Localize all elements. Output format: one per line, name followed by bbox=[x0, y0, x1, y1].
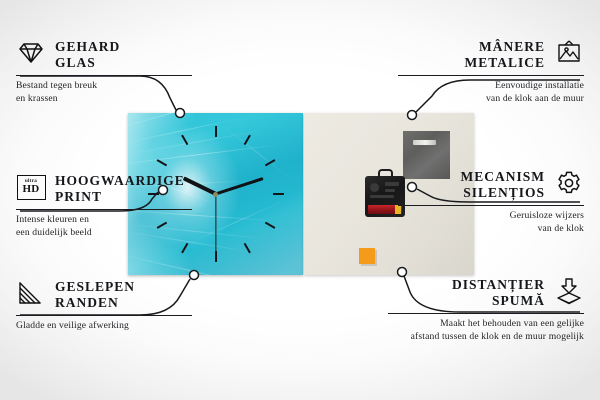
feature-description: Eenvoudige installatie van de klok aan d… bbox=[398, 79, 584, 105]
clock-tick-mark bbox=[181, 135, 188, 146]
feature-divider bbox=[398, 205, 584, 206]
mechanism-detail-c bbox=[385, 189, 395, 192]
mechanism-hanging-loop bbox=[378, 169, 393, 178]
clock-tick-mark bbox=[215, 251, 217, 262]
feature-description: Geruisloze wijzers van de klok bbox=[398, 209, 584, 235]
feature-header: GESLEPEN RANDEN bbox=[16, 278, 192, 312]
feature-title: GESLEPEN RANDEN bbox=[55, 278, 135, 312]
hanger-slot bbox=[413, 140, 436, 145]
feature-header: MÂNERE METALICE bbox=[398, 38, 584, 72]
beveled-edge-icon bbox=[16, 278, 46, 308]
feature-title: DISTANȚIER SPUMĂ bbox=[452, 276, 545, 310]
feature-divider bbox=[16, 75, 192, 76]
feature-header: MECANISM SILENȚIOS bbox=[398, 168, 584, 202]
hanging-picture-icon bbox=[554, 38, 584, 68]
clock-tick-mark bbox=[243, 135, 250, 146]
ultra-hd-icon-bottom-label: HD bbox=[23, 184, 40, 195]
feature-header: GEHARD GLAS bbox=[16, 38, 192, 72]
foam-spacer bbox=[359, 248, 375, 264]
feature-header: ultra HD HOOGWAARDIGE PRINT bbox=[16, 172, 192, 206]
feature-title: MECANISM SILENȚIOS bbox=[461, 168, 546, 202]
mechanism-detail-a bbox=[370, 183, 379, 192]
feature-title: MÂNERE METALICE bbox=[464, 38, 545, 72]
feature-mecanism-silentios: MECANISM SILENȚIOS Geruisloze wijzers va… bbox=[398, 168, 584, 235]
ultra-hd-icon: ultra HD bbox=[16, 172, 46, 202]
clock-tick-mark bbox=[264, 159, 275, 166]
feature-divider bbox=[398, 75, 584, 76]
feature-description: Intense kleuren en een duidelijk beeld bbox=[16, 213, 192, 239]
feature-description: Gladde en veilige afwerking bbox=[16, 319, 192, 332]
feature-title: GEHARD GLAS bbox=[55, 38, 120, 72]
diamond-icon bbox=[16, 38, 46, 68]
feature-description: Maakt het behouden van een gelijke afsta… bbox=[388, 317, 584, 343]
feature-divider bbox=[388, 313, 584, 314]
clock-second-hand bbox=[215, 194, 216, 252]
feature-hoogwaardige-print: ultra HD HOOGWAARDIGE PRINT Intense kleu… bbox=[16, 172, 192, 239]
clock-tick-mark bbox=[273, 193, 284, 195]
clock-tick-mark bbox=[264, 222, 275, 229]
mechanism-detail-b bbox=[385, 182, 399, 186]
clock-tick-mark bbox=[181, 243, 188, 254]
clock-battery bbox=[368, 205, 402, 214]
clock-tick-mark bbox=[156, 159, 167, 166]
layers-down-arrow-icon bbox=[554, 276, 584, 306]
gear-icon bbox=[554, 168, 584, 198]
feature-header: DISTANȚIER SPUMĂ bbox=[388, 276, 584, 310]
feature-geslepen-randen: GESLEPEN RANDEN Gladde en veilige afwerk… bbox=[16, 278, 192, 332]
clock-hand-cap bbox=[213, 192, 218, 197]
feature-description: Bestand tegen breuk en krassen bbox=[16, 79, 192, 105]
feature-distantier-spuma: DISTANȚIER SPUMĂ Maakt het behouden van … bbox=[388, 276, 584, 343]
clock-tick-mark bbox=[215, 126, 217, 137]
infographic-canvas: GEHARD GLAS Bestand tegen breuk en krass… bbox=[0, 0, 600, 400]
feature-gehard-glas: GEHARD GLAS Bestand tegen breuk en krass… bbox=[16, 38, 192, 105]
feature-divider bbox=[16, 315, 192, 316]
feature-title: HOOGWAARDIGE PRINT bbox=[55, 172, 185, 206]
clock-tick-mark bbox=[243, 243, 250, 254]
feature-divider bbox=[16, 209, 192, 210]
feature-manere-metalice: MÂNERE METALICE Eenvoudige installatie v… bbox=[398, 38, 584, 105]
mechanism-detail-d bbox=[370, 195, 394, 198]
